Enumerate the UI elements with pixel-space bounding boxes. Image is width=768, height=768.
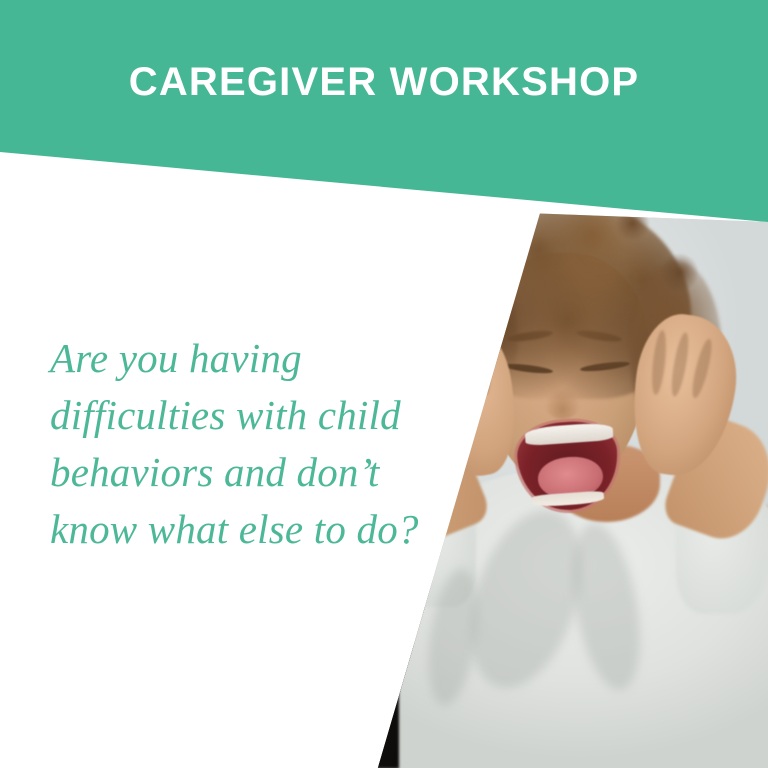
hand-finger [476, 334, 493, 396]
page-title: CAREGIVER WORKSHOP [129, 62, 640, 102]
hand-finger [453, 330, 474, 396]
headline-line: behaviors and don’t [50, 444, 450, 501]
hair-curl [614, 207, 651, 239]
hair-curl [442, 261, 477, 299]
header-banner: CAREGIVER WORKSHOP [0, 0, 768, 232]
headline-line: difficulties with child [50, 387, 450, 444]
headline-text: Are you having difficulties with child b… [50, 330, 450, 558]
headline-line: Are you having [50, 330, 450, 387]
flyer-canvas: CAREGIVER WORKSHOP Are you having diffic… [0, 0, 768, 768]
hair-curl [660, 253, 698, 291]
hair-curl [461, 215, 496, 246]
headline-line: know what else to do? [50, 501, 450, 558]
